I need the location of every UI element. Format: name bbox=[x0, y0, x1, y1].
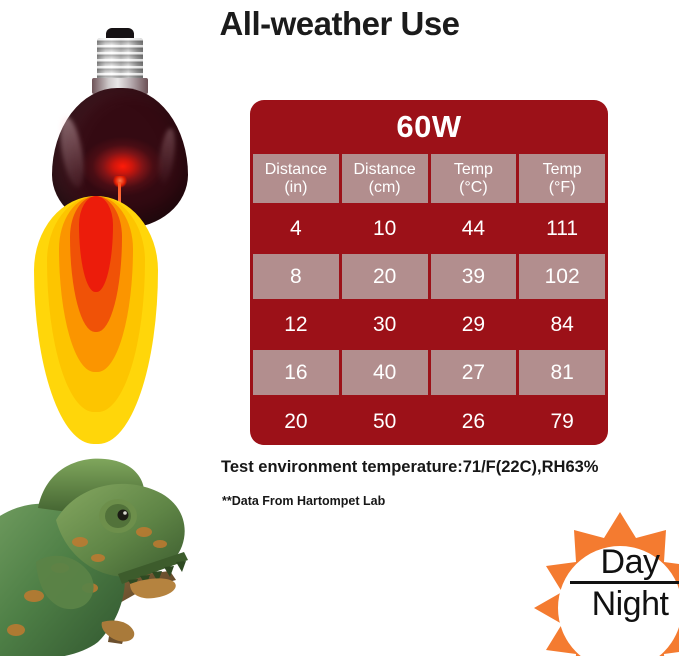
cell-temp-c: 39 bbox=[431, 254, 517, 299]
cell-temp-f: 102 bbox=[519, 254, 605, 299]
fraction-divider bbox=[570, 581, 679, 584]
column-header-distance-cm: Distance(cm) bbox=[342, 154, 428, 203]
table-row: 8 20 39 102 bbox=[250, 254, 608, 302]
cell-temp-c: 44 bbox=[431, 206, 517, 251]
table-row: 20 50 26 79 bbox=[250, 398, 608, 445]
data-source-caption: **Data From Hartompet Lab bbox=[222, 494, 385, 508]
column-header-distance-in: Distance(in) bbox=[253, 154, 339, 203]
cell-temp-f: 81 bbox=[519, 350, 605, 395]
bulb-screw-base bbox=[97, 38, 143, 82]
cell-temp-c: 26 bbox=[431, 398, 517, 445]
chameleon-image bbox=[0, 446, 244, 656]
cell-temp-c: 29 bbox=[431, 302, 517, 347]
night-label: Night bbox=[570, 585, 679, 623]
cell-distance-in: 8 bbox=[253, 254, 339, 299]
cell-distance-in: 4 bbox=[253, 206, 339, 251]
cell-temp-f: 84 bbox=[519, 302, 605, 347]
column-header-temp-f: Temp(°F) bbox=[519, 154, 605, 203]
cell-distance-in: 16 bbox=[253, 350, 339, 395]
table-row: 4 10 44 111 bbox=[250, 206, 608, 254]
cell-distance-cm: 20 bbox=[342, 254, 428, 299]
test-environment-caption: Test environment temperature:71/F(22C),R… bbox=[221, 458, 598, 477]
table-row: 12 30 29 84 bbox=[250, 302, 608, 350]
cell-temp-f: 111 bbox=[519, 206, 605, 251]
day-label: Day bbox=[570, 544, 679, 580]
table-header-row: Distance(in) Distance(cm) Temp(°C) Temp(… bbox=[250, 154, 608, 206]
day-night-badge: Day Night bbox=[508, 508, 679, 656]
light-beam-cone bbox=[28, 196, 164, 446]
table-row: 16 40 27 81 bbox=[250, 350, 608, 398]
day-night-text: Day Night bbox=[570, 544, 679, 623]
table-heading: 60W bbox=[250, 100, 608, 154]
cell-distance-cm: 30 bbox=[342, 302, 428, 347]
temperature-distance-table: 60W Distance(in) Distance(cm) Temp(°C) T… bbox=[250, 100, 608, 445]
product-infographic: All-weather Use bbox=[0, 0, 679, 656]
cell-temp-c: 27 bbox=[431, 350, 517, 395]
cell-distance-cm: 40 bbox=[342, 350, 428, 395]
cell-temp-f: 79 bbox=[519, 398, 605, 445]
column-header-temp-c: Temp(°C) bbox=[431, 154, 517, 203]
cell-distance-in: 20 bbox=[253, 398, 339, 445]
cell-distance-in: 12 bbox=[253, 302, 339, 347]
cell-distance-cm: 50 bbox=[342, 398, 428, 445]
cell-distance-cm: 10 bbox=[342, 206, 428, 251]
